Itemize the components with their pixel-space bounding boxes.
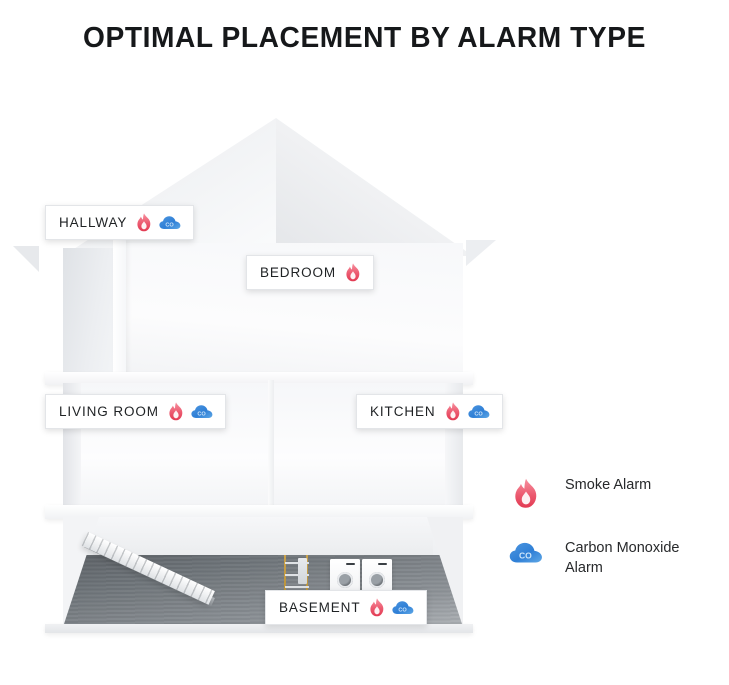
legend-smoke-alarm-label: Smoke Alarm xyxy=(565,476,651,496)
room-label-hallway-icons: CO xyxy=(136,213,181,232)
room-label-living-room[interactable]: LIVING ROOM CO xyxy=(45,394,226,429)
legend-smoke-icon-wrap xyxy=(508,476,544,509)
svg-text:CO: CO xyxy=(166,222,175,228)
room-label-hallway[interactable]: HALLWAY CO xyxy=(45,205,194,240)
room-label-bedroom[interactable]: BEDROOM xyxy=(246,255,374,290)
flame-icon xyxy=(445,402,461,421)
flame-icon xyxy=(345,263,361,282)
legend-co-icon-wrap: CO xyxy=(508,539,544,564)
room-label-living-room-text: LIVING ROOM xyxy=(59,404,159,419)
legend-item-co-alarm: CO Carbon Monoxide Alarm xyxy=(508,539,718,578)
room-label-kitchen-icons: CO xyxy=(445,402,490,421)
svg-text:CO: CO xyxy=(197,411,206,417)
roof-eave-left xyxy=(13,246,39,272)
flame-icon xyxy=(168,402,184,421)
room-label-hallway-text: HALLWAY xyxy=(59,215,127,230)
room-label-basement[interactable]: BASEMENT CO xyxy=(265,590,427,625)
co-cloud-icon: CO xyxy=(392,600,414,615)
basement-base-slab xyxy=(45,624,473,633)
room-label-living-room-icons: CO xyxy=(168,402,213,421)
legend-co-alarm-label: Carbon Monoxide Alarm xyxy=(565,539,715,578)
svg-text:CO: CO xyxy=(519,550,532,560)
room-label-kitchen-text: KITCHEN xyxy=(370,404,436,419)
staircase xyxy=(88,532,206,602)
room-label-basement-icons: CO xyxy=(369,598,414,617)
page-title: OPTIMAL PLACEMENT BY ALARM TYPE xyxy=(11,22,718,55)
flame-icon xyxy=(136,213,152,232)
legend-item-smoke-alarm: Smoke Alarm xyxy=(508,476,718,509)
co-cloud-icon: CO xyxy=(159,215,181,230)
hallway-partition-wall xyxy=(113,240,126,380)
flame-icon xyxy=(369,598,385,617)
svg-text:CO: CO xyxy=(474,411,483,417)
flame-icon xyxy=(513,478,539,509)
svg-text:CO: CO xyxy=(399,607,408,613)
room-label-bedroom-icons xyxy=(345,263,361,282)
room-label-kitchen[interactable]: KITCHEN CO xyxy=(356,394,503,429)
co-cloud-icon: CO xyxy=(191,404,213,419)
hallway-interior xyxy=(63,248,113,380)
co-cloud-icon: CO xyxy=(468,404,490,419)
room-label-basement-text: BASEMENT xyxy=(279,600,360,615)
alarm-type-legend: Smoke Alarm CO Carbon Monoxide Alarm xyxy=(508,476,718,608)
house-cross-section xyxy=(0,100,520,645)
roof-eave-right xyxy=(466,240,496,266)
room-label-bedroom-text: BEDROOM xyxy=(260,265,336,280)
co-cloud-icon: CO xyxy=(509,541,543,564)
ground-floor-partition-wall xyxy=(268,380,274,508)
